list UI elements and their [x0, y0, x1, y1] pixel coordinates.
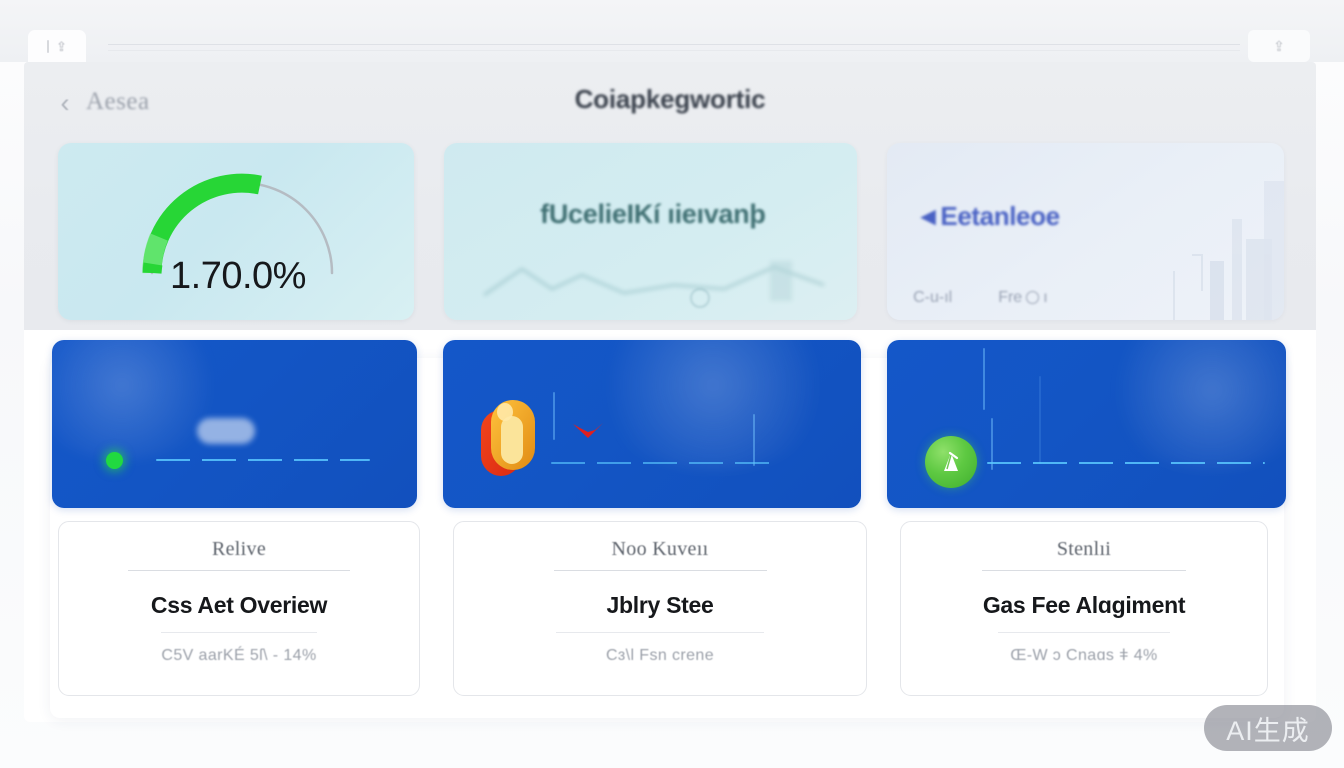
gauge-widget: 1.70.0% — [58, 143, 414, 320]
info-card-title: Gas Fee Alɑgiment — [983, 592, 1185, 619]
stat-card-row: 1.70.0% fUcelieIKí ıieıvanþ ◄Eetanleoe — [58, 143, 1284, 320]
info-card-eyebrow: Stenlıi — [1057, 538, 1111, 561]
divider — [998, 632, 1170, 633]
browser-chrome: ⇪ ⇪ — [0, 0, 1344, 62]
banner-card-3[interactable] — [887, 340, 1286, 508]
app-root: ⇪ ⇪ ‹ Aesea Coiapkegwortic 1.70.0% — [0, 0, 1344, 768]
page-title: Coiapkegwortic — [24, 84, 1316, 115]
green-flask-badge-icon — [925, 436, 977, 488]
tab-divider-icon — [47, 40, 49, 53]
balance-footer-right: Freı — [998, 289, 1047, 307]
divider — [161, 632, 317, 633]
info-card-eyebrow: Noo Kuveıı — [612, 538, 709, 561]
chevron-down-red-icon — [571, 420, 605, 442]
flask-glyph-icon — [938, 449, 964, 475]
banner-row — [52, 340, 1286, 508]
page-header: ‹ Aesea Coiapkegwortic — [24, 72, 1316, 134]
info-card-subtitle: Œ-W ɔ Cnaɑs ǂ 4% — [1010, 647, 1157, 665]
browser-tab[interactable]: ⇪ — [28, 30, 86, 62]
divider — [556, 632, 764, 633]
balance-card-footer: C-u-ıl Freı — [913, 289, 1253, 307]
gauge-card[interactable]: 1.70.0% — [58, 143, 414, 320]
capsule-icon — [479, 398, 541, 480]
dashed-line — [156, 459, 370, 461]
balance-card-headline: ◄Eetanleoe — [915, 201, 1060, 232]
info-card-eyebrow: Relive — [212, 538, 266, 561]
info-card-jblry-stee[interactable]: Noo Kuveıı Jblry Stee Cɜ\l Fsn crene — [453, 521, 867, 696]
vertical-tick — [1039, 376, 1041, 464]
divider — [554, 570, 767, 571]
dashed-line — [987, 462, 1265, 464]
teal-stat-card[interactable]: fUcelieIKí ıieıvanþ — [444, 143, 857, 320]
info-card-gas-fee-alignment[interactable]: Stenlıi Gas Fee Alɑgiment Œ-W ɔ Cnaɑs ǂ … — [900, 521, 1268, 696]
ghost-chart-icon — [474, 255, 834, 305]
banner-card-2[interactable] — [443, 340, 860, 508]
info-card-asset-overview[interactable]: Relive Css Aet Overiew C5V aarKÉ 5ſ\ - 1… — [58, 521, 420, 696]
vertical-tick — [983, 348, 985, 410]
banner-glow — [583, 340, 843, 470]
ring-icon — [1026, 291, 1039, 304]
divider — [982, 570, 1186, 571]
info-card-title: Jblry Stee — [607, 592, 714, 619]
tab-glyph-icon: ⇪ — [56, 40, 67, 53]
balance-footer-left: C-u-ıl — [913, 289, 952, 307]
info-card-row: Relive Css Aet Overiew C5V aarKÉ 5ſ\ - 1… — [58, 521, 1280, 696]
cloud-icon — [197, 418, 255, 444]
browser-action-button[interactable]: ⇪ — [1248, 30, 1310, 62]
info-card-title: Css Aet Overiew — [151, 592, 327, 619]
banner-glow — [1097, 340, 1286, 470]
vertical-tick — [553, 392, 555, 440]
info-card-subtitle: C5V aarKÉ 5ſ\ - 14% — [161, 647, 316, 665]
bookmark-icon: ⇪ — [1273, 39, 1285, 53]
green-dot-icon — [106, 452, 123, 469]
dashed-line — [551, 462, 771, 464]
gauge-value: 1.70.0% — [58, 143, 414, 320]
info-card-subtitle: Cɜ\l Fsn crene — [606, 647, 714, 665]
teal-card-headline: fUcelieIKí ıieıvanþ — [444, 199, 857, 230]
balance-stat-card[interactable]: ◄Eetanleoe C-u-ıl Freı — [887, 143, 1284, 320]
address-bar[interactable] — [108, 44, 1240, 51]
ai-watermark: AI生成 — [1204, 705, 1332, 751]
circle-indicator-icon — [690, 288, 710, 308]
banner-card-1[interactable] — [52, 340, 417, 508]
divider — [128, 570, 350, 571]
